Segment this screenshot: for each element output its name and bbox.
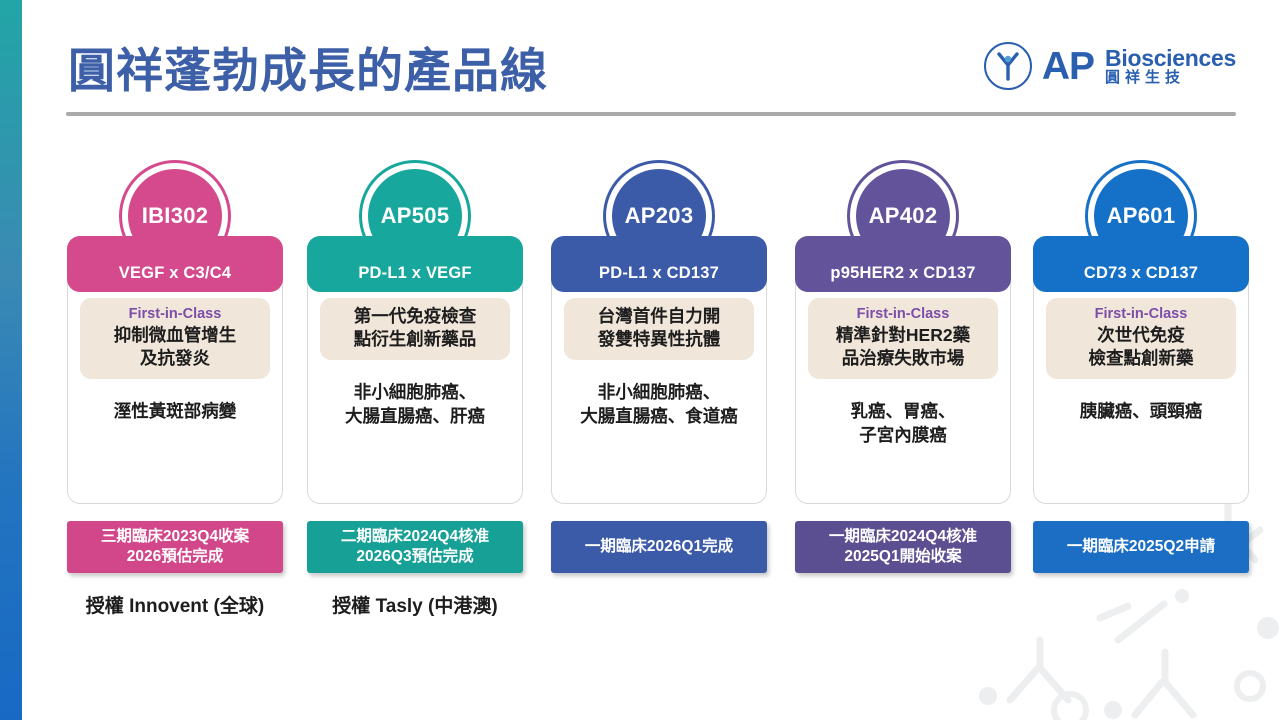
first-in-class-tag: First-in-Class xyxy=(1052,305,1230,323)
indication-line-1: 乳癌、胃癌、 xyxy=(806,399,1000,423)
target-label: p95HER2 x CD137 xyxy=(830,264,975,283)
target-label: PD-L1 x CD137 xyxy=(599,264,719,283)
status-line-1: 一期臨床2024Q4核准 xyxy=(829,527,977,547)
indication-line-1: 非小細胞肺癌、 xyxy=(318,380,512,404)
pipeline-column-ap505[interactable]: AP505 PD-L1 x VEGF 第一代免疫檢查 點衍生創新藥品 非小細胞肺… xyxy=(307,160,523,618)
indication-line-2: 子宮內膜癌 xyxy=(806,423,1000,447)
slide-root: 圓祥蓬勃成長的產品線 AP Biosciences 圓祥生技 xyxy=(0,0,1280,720)
product-card: 第一代免疫檢查 點衍生創新藥品 非小細胞肺癌、 大腸直腸癌、肝癌 xyxy=(307,280,523,504)
status-line-1: 三期臨床2023Q4收案 xyxy=(101,527,249,547)
highlight-line-1: 台灣首件自力開 xyxy=(570,305,748,328)
indication-line-2: 大腸直腸癌、肝癌 xyxy=(318,404,512,428)
highlight-box: First-in-Class 抑制微血管增生 及抗發炎 xyxy=(80,298,270,379)
target-label: VEGF x C3/C4 xyxy=(119,264,231,283)
indications: 胰臟癌、頭頸癌 xyxy=(1042,399,1240,423)
status-text: 一期臨床2025Q2申請 xyxy=(1067,537,1215,557)
product-code: IBI302 xyxy=(142,203,209,229)
header-divider xyxy=(66,112,1236,116)
pipeline-column-ap601[interactable]: AP601 CD73 x CD137 First-in-Class 次世代免疫 … xyxy=(1033,160,1249,573)
indications: 非小細胞肺癌、 大腸直腸癌、肝癌 xyxy=(316,380,514,428)
status-text: 三期臨床2023Q4收案 2026預估完成 xyxy=(101,527,249,567)
indication-line-1: 胰臟癌、頭頸癌 xyxy=(1044,399,1238,423)
company-logo: AP Biosciences 圓祥生技 xyxy=(983,38,1236,94)
pipeline-column-ap203[interactable]: AP203 PD-L1 x CD137 台灣首件自力開 發雙特異性抗體 非小細胞… xyxy=(551,160,767,573)
status-line-1: 一期臨床2025Q2申請 xyxy=(1067,537,1215,557)
license-note: 授權 Tasly (中港澳) xyxy=(307,591,523,618)
highlight-line-2: 檢查點創新藥 xyxy=(1052,347,1230,370)
antibody-y-circle-icon xyxy=(983,41,1033,91)
first-in-class-tag: First-in-Class xyxy=(814,305,992,323)
status-line-2: 2025Q1開始收案 xyxy=(829,547,977,567)
highlight-box: 台灣首件自力開 發雙特異性抗體 xyxy=(564,298,754,360)
highlight-line-1: 精準針對HER2藥 xyxy=(814,324,992,347)
indications: 溼性黃斑部病變 xyxy=(76,399,274,423)
highlight-box: First-in-Class 精準針對HER2藥 品治療失敗市場 xyxy=(808,298,998,379)
status-box: 一期臨床2024Q4核准 2025Q1開始收案 xyxy=(795,521,1011,573)
indication-line-2: 大腸直腸癌、食道癌 xyxy=(562,404,756,428)
product-card: 台灣首件自力開 發雙特異性抗體 非小細胞肺癌、 大腸直腸癌、食道癌 xyxy=(551,280,767,504)
status-box: 二期臨床2024Q4核准 2026Q3預估完成 xyxy=(307,521,523,573)
target-bar: CD73 x CD137 xyxy=(1033,236,1249,292)
status-line-1: 一期臨床2026Q1完成 xyxy=(585,537,733,557)
target-label: CD73 x CD137 xyxy=(1084,264,1198,283)
product-card: First-in-Class 抑制微血管增生 及抗發炎 溼性黃斑部病變 xyxy=(67,280,283,504)
highlight-line-1: 第一代免疫檢查 xyxy=(326,305,504,328)
product-code: AP402 xyxy=(869,203,938,229)
license-note: 授權 Innovent (全球) xyxy=(67,591,283,618)
status-box: 一期臨床2026Q1完成 xyxy=(551,521,767,573)
highlight-line-2: 及抗發炎 xyxy=(86,347,264,370)
highlight-line-1: 抑制微血管增生 xyxy=(86,324,264,347)
status-line-2: 2026Q3預估完成 xyxy=(341,547,489,567)
product-code: AP203 xyxy=(625,203,694,229)
logo-english-name: Biosciences xyxy=(1105,46,1236,70)
product-code: AP601 xyxy=(1107,203,1176,229)
status-text: 一期臨床2026Q1完成 xyxy=(585,537,733,557)
target-bar: VEGF x C3/C4 xyxy=(67,236,283,292)
indications: 非小細胞肺癌、 大腸直腸癌、食道癌 xyxy=(560,380,758,428)
status-text: 二期臨床2024Q4核准 2026Q3預估完成 xyxy=(341,527,489,567)
highlight-line-2: 發雙特異性抗體 xyxy=(570,328,748,351)
indications: 乳癌、胃癌、 子宮內膜癌 xyxy=(804,399,1002,447)
page-title: 圓祥蓬勃成長的產品線 xyxy=(68,32,548,101)
highlight-line-1: 次世代免疫 xyxy=(1052,324,1230,347)
logo-ap-text: AP xyxy=(1042,47,1094,86)
pipeline-column-ap402[interactable]: AP402 p95HER2 x CD137 First-in-Class 精準針… xyxy=(795,160,1011,573)
slide-header: 圓祥蓬勃成長的產品線 AP Biosciences 圓祥生技 xyxy=(0,0,1280,130)
status-text: 一期臨床2024Q4核准 2025Q1開始收案 xyxy=(829,527,977,567)
target-bar: PD-L1 x VEGF xyxy=(307,236,523,292)
pipeline-grid: IBI302 VEGF x C3/C4 First-in-Class 抑制微血管… xyxy=(60,160,1260,660)
status-line-1: 二期臨床2024Q4核准 xyxy=(341,527,489,547)
status-box: 一期臨床2025Q2申請 xyxy=(1033,521,1249,573)
highlight-line-2: 點衍生創新藥品 xyxy=(326,328,504,351)
logo-chinese-name: 圓祥生技 xyxy=(1105,70,1236,87)
indication-line-1: 溼性黃斑部病變 xyxy=(78,399,272,423)
indication-line-1: 非小細胞肺癌、 xyxy=(562,380,756,404)
pipeline-column-ibi302[interactable]: IBI302 VEGF x C3/C4 First-in-Class 抑制微血管… xyxy=(67,160,283,618)
product-card: First-in-Class 次世代免疫 檢查點創新藥 胰臟癌、頭頸癌 xyxy=(1033,280,1249,504)
first-in-class-tag: First-in-Class xyxy=(86,305,264,323)
target-label: PD-L1 x VEGF xyxy=(358,264,471,283)
target-bar: PD-L1 x CD137 xyxy=(551,236,767,292)
status-box: 三期臨床2023Q4收案 2026預估完成 xyxy=(67,521,283,573)
highlight-box: First-in-Class 次世代免疫 檢查點創新藥 xyxy=(1046,298,1236,379)
status-line-2: 2026預估完成 xyxy=(101,547,249,567)
product-code: AP505 xyxy=(381,203,450,229)
product-card: First-in-Class 精準針對HER2藥 品治療失敗市場 乳癌、胃癌、 … xyxy=(795,280,1011,504)
highlight-line-2: 品治療失敗市場 xyxy=(814,347,992,370)
highlight-box: 第一代免疫檢查 點衍生創新藥品 xyxy=(320,298,510,360)
target-bar: p95HER2 x CD137 xyxy=(795,236,1011,292)
